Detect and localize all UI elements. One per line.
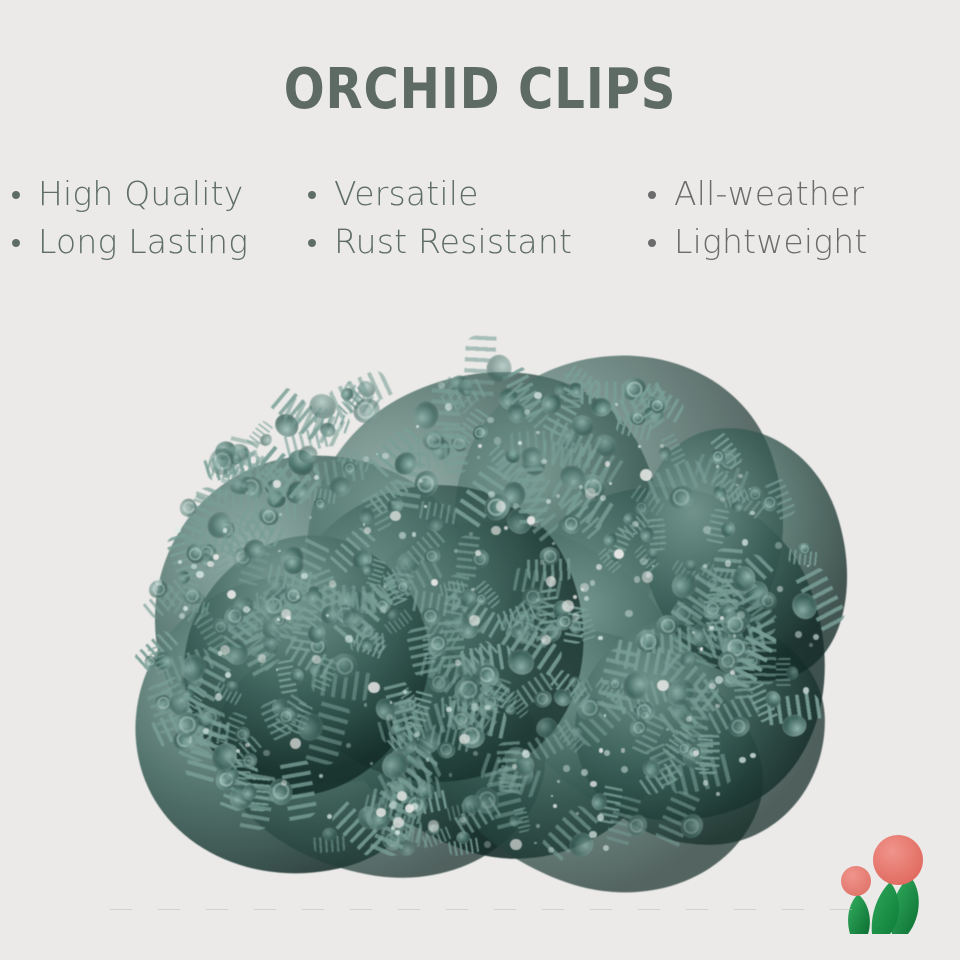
specular-highlight (319, 774, 323, 778)
bullet-icon (648, 191, 656, 199)
pile-gap (585, 488, 595, 498)
list-item: All-weather (648, 170, 868, 218)
leaf-middle-icon (872, 882, 899, 934)
pile-gap (390, 511, 400, 521)
bullet-icon (308, 239, 316, 247)
pile-gap (329, 580, 336, 587)
specular-highlight (386, 714, 393, 721)
pile-gap (281, 609, 291, 619)
specular-highlight (485, 705, 491, 711)
specular-highlight (598, 636, 602, 640)
leaf-small-icon (848, 894, 870, 934)
list-item: Lightweight (648, 218, 868, 266)
specular-highlight (363, 456, 369, 462)
bullet-icon (12, 239, 20, 247)
pile-gap (459, 734, 470, 745)
specular-highlight (345, 635, 353, 643)
product-photo (125, 335, 840, 880)
specular-highlight (640, 558, 648, 566)
clip-flower-knob (787, 666, 799, 679)
specular-highlight (446, 707, 451, 712)
specular-highlight (625, 610, 633, 618)
orchid-clip (686, 735, 714, 771)
specular-highlight (471, 703, 478, 710)
bloom-small-icon (841, 866, 871, 896)
specular-highlight (215, 693, 223, 701)
specular-highlight (380, 606, 386, 612)
specular-highlight (536, 431, 539, 434)
pile-gap (527, 516, 536, 525)
pile-gap (642, 571, 654, 583)
specular-highlight (278, 550, 280, 552)
feature-label: Rust Resistant (334, 218, 572, 266)
feature-label: High Quality (38, 170, 244, 218)
list-item: High Quality (12, 170, 248, 218)
specular-highlight (449, 773, 453, 777)
pile-gap (709, 683, 715, 689)
specular-highlight (277, 618, 280, 621)
promo-poster: ORCHID CLIPS High Quality Long Lasting V… (0, 0, 960, 960)
specular-highlight (414, 732, 419, 737)
bullet-icon (648, 239, 656, 247)
pile-gap (657, 680, 668, 691)
specular-highlight (513, 503, 519, 509)
specular-highlight (179, 613, 185, 619)
brand-logo (832, 834, 942, 938)
specular-highlight (390, 701, 393, 704)
specular-highlight (609, 482, 612, 485)
specular-highlight (600, 495, 606, 501)
feature-list: High Quality Long Lasting Versatile Rust… (0, 170, 960, 280)
specular-highlight (223, 528, 227, 532)
specular-highlight (399, 532, 405, 538)
pile-gap (496, 501, 507, 512)
pile-gap (693, 750, 699, 756)
pile-gap (720, 616, 724, 620)
specular-highlight (716, 792, 720, 796)
specular-highlight (589, 831, 596, 838)
specular-highlight (541, 459, 547, 465)
orchid-clip (326, 590, 378, 631)
specular-highlight (738, 474, 742, 478)
specular-highlight (632, 521, 639, 528)
specular-highlight (572, 613, 580, 621)
pile-gap (546, 576, 557, 587)
pile-gap (469, 615, 480, 626)
orchid-clip-pile (125, 335, 840, 880)
specular-highlight (155, 579, 162, 586)
specular-highlight (426, 758, 429, 761)
specular-highlight (703, 564, 707, 568)
pile-gap (553, 804, 557, 808)
specular-highlight (471, 588, 475, 592)
specular-highlight (248, 608, 251, 611)
orchid-clip (788, 542, 820, 567)
specular-highlight (424, 505, 427, 508)
specular-highlight (739, 757, 745, 763)
specular-highlight (459, 817, 465, 823)
pile-gap (273, 480, 281, 488)
feature-column-1: High Quality Long Lasting (12, 170, 248, 266)
pile-gap (715, 704, 719, 708)
page-title: ORCHID CLIPS (67, 62, 893, 118)
specular-highlight (296, 595, 300, 599)
list-item: Rust Resistant (308, 218, 572, 266)
feature-label: All-weather (674, 170, 864, 218)
specular-highlight (327, 814, 332, 819)
pile-gap (614, 549, 624, 559)
orchid-clip (415, 499, 458, 533)
specular-highlight (737, 611, 745, 619)
pile-gap (431, 579, 438, 586)
specular-highlight (310, 442, 312, 444)
specular-highlight (634, 576, 641, 583)
clip-ring (543, 549, 556, 562)
specular-highlight (469, 532, 473, 536)
pile-gap (397, 791, 407, 801)
bullet-icon (308, 191, 316, 199)
specular-highlight (314, 475, 319, 480)
feature-column-2: Versatile Rust Resistant (308, 170, 572, 266)
clip-flower-knob (521, 446, 542, 465)
specular-highlight (809, 643, 813, 647)
specular-highlight (419, 479, 423, 483)
specular-highlight (236, 749, 240, 753)
specular-highlight (556, 494, 560, 498)
pile-gap (478, 444, 482, 448)
bloom-large-icon (873, 835, 923, 885)
orchid-clip (776, 658, 798, 688)
specular-highlight (403, 690, 407, 694)
specular-highlight (596, 493, 599, 496)
pile-gap (541, 635, 551, 645)
specular-highlight (563, 765, 570, 772)
specular-highlight (749, 488, 751, 490)
specular-highlight (438, 382, 444, 388)
specular-highlight (604, 750, 610, 756)
specular-highlight (370, 762, 373, 765)
specular-highlight (660, 444, 664, 448)
specular-highlight (309, 516, 312, 519)
specular-highlight (703, 526, 711, 534)
clip-flower-knob (486, 354, 512, 383)
specular-highlight (203, 728, 209, 734)
specular-highlight (183, 606, 188, 611)
specular-highlight (191, 564, 196, 569)
pile-gap (405, 804, 414, 813)
feature-column-3: All-weather Lightweight (648, 170, 868, 266)
pile-gap (700, 647, 704, 651)
pile-gap (258, 654, 266, 662)
orchid-clip (639, 516, 667, 552)
specular-highlight (615, 403, 618, 406)
pile-gap (475, 550, 481, 556)
specular-highlight (581, 769, 588, 776)
specular-highlight (346, 743, 351, 748)
specular-highlight (579, 485, 583, 489)
specular-highlight (777, 586, 782, 591)
specular-highlight (225, 672, 231, 678)
specular-highlight (196, 571, 203, 578)
orchid-clip (313, 826, 348, 853)
orchid-clip (241, 774, 271, 812)
clip-flower-knob (342, 608, 365, 629)
specular-highlight (382, 453, 388, 459)
bullet-icon (12, 191, 20, 199)
clip-flower-knob (591, 398, 612, 417)
specular-highlight (716, 465, 719, 468)
pile-gap (640, 469, 652, 481)
specular-highlight (666, 728, 669, 731)
orchid-clip (502, 613, 534, 638)
specular-highlight (775, 542, 782, 549)
specular-highlight (584, 596, 589, 601)
feature-label: Long Lasting (38, 218, 248, 266)
pile-gap (596, 564, 602, 570)
specular-highlight (487, 417, 493, 423)
specular-highlight (548, 847, 554, 853)
specular-highlight (795, 631, 802, 638)
specular-highlight (742, 539, 749, 546)
feature-label: Lightweight (674, 218, 868, 266)
specular-highlight (638, 445, 641, 448)
orchid-clip (463, 335, 513, 401)
specular-highlight (524, 409, 530, 415)
pile-gap (562, 600, 574, 612)
specular-highlight (178, 560, 182, 564)
pile-gap (730, 670, 735, 675)
feature-label: Versatile (334, 170, 479, 218)
clip-flower-knob (732, 565, 757, 592)
specular-highlight (725, 560, 732, 567)
pile-gap (393, 817, 404, 828)
specular-highlight (518, 441, 522, 445)
specular-highlight (363, 523, 365, 525)
specular-highlight (301, 573, 307, 579)
specular-highlight (750, 511, 754, 515)
list-item: Versatile (308, 170, 572, 218)
pile-gap (580, 583, 589, 592)
list-item: Long Lasting (12, 218, 248, 266)
specular-highlight (557, 780, 560, 783)
scan-artifact-line (110, 909, 860, 910)
orchid-clip (507, 430, 555, 467)
specular-highlight (715, 676, 723, 684)
specular-highlight (803, 687, 809, 693)
specular-highlight (477, 456, 479, 458)
pile-gap (428, 820, 440, 832)
specular-highlight (590, 580, 595, 585)
